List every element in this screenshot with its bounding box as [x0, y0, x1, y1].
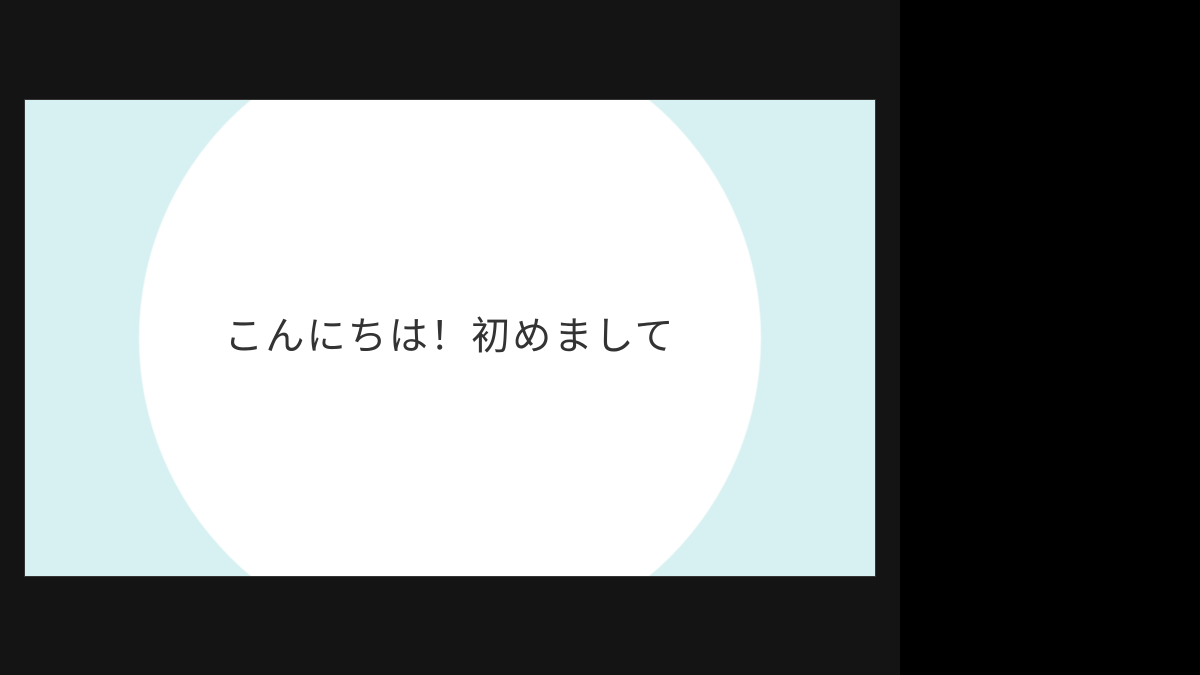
meeting-stage: こんにちは！初めまして — [0, 0, 1200, 675]
screen-share-panel[interactable]: こんにちは！初めまして — [0, 0, 900, 675]
slide-title-text: こんにちは！初めまして — [25, 314, 875, 363]
participant-rail — [900, 0, 1200, 675]
shared-slide[interactable]: こんにちは！初めまして — [25, 100, 875, 576]
